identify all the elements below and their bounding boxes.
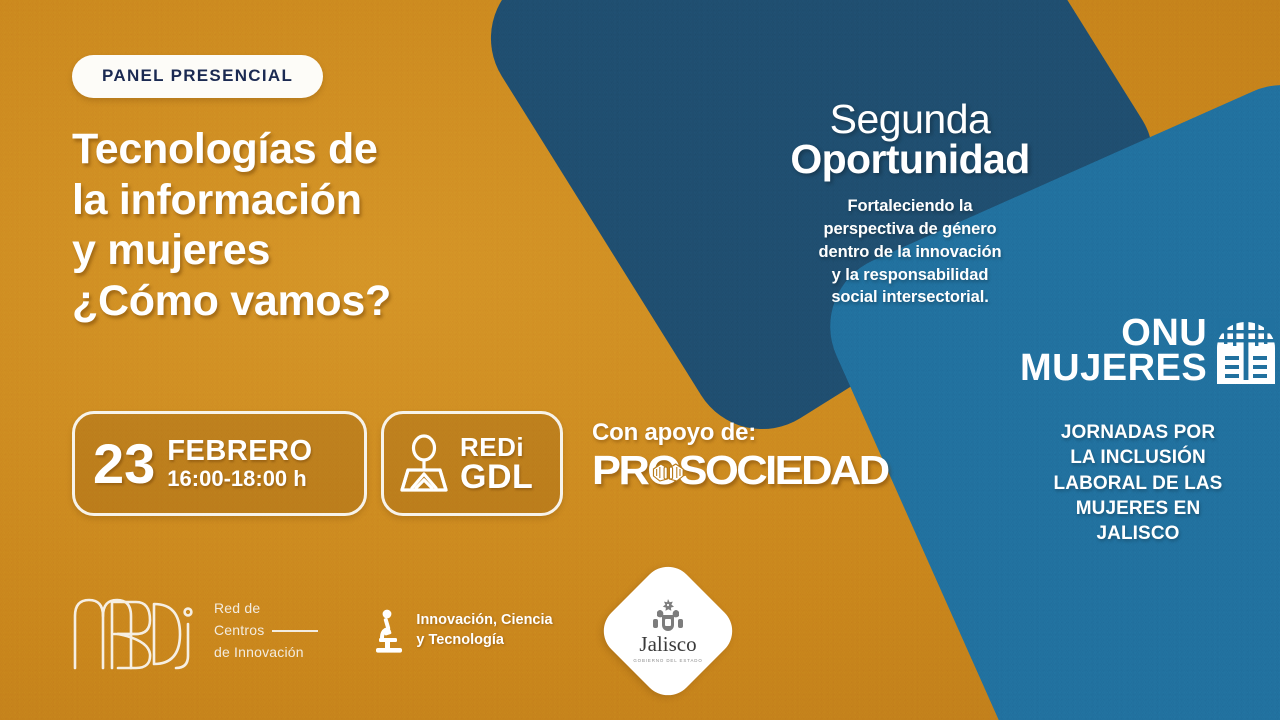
title-line-3: y mujeres bbox=[72, 225, 592, 276]
program-title-line-1: Segunda bbox=[760, 100, 1060, 139]
onu-word-1: ONU bbox=[1020, 316, 1207, 351]
campaign-title: JORNADAS POR LA INCLUSIÓN LABORAL DE LAS… bbox=[1020, 420, 1256, 546]
sponsor-name-text: PROSOCIEDAD bbox=[592, 447, 888, 493]
event-month-label: FEBRERO bbox=[167, 436, 312, 466]
program-description-line-4: y la responsabilidad bbox=[760, 264, 1060, 287]
ict-label: Innovación, Ciencia y Tecnología bbox=[416, 611, 552, 650]
title-line-4: ¿Cómo vamos? bbox=[72, 276, 592, 327]
panel-type-badge-label: PANEL PRESENCIAL bbox=[102, 66, 293, 85]
jalisco-coat-of-arms-icon bbox=[649, 599, 687, 633]
ict-label-line-2: y Tecnología bbox=[416, 631, 552, 651]
microscope-icon bbox=[376, 608, 406, 654]
program-description-line-2: perspectiva de género bbox=[760, 218, 1060, 241]
campaign-title-line-2: LA INCLUSIÓN bbox=[1020, 445, 1256, 470]
redi-tagline-line-2: Centros bbox=[214, 620, 264, 642]
event-time-label: 16:00-18:00 h bbox=[167, 466, 312, 491]
handshake-icon bbox=[651, 456, 685, 486]
program-description-line-5: social intersectorial. bbox=[760, 286, 1060, 309]
campaign-title-line-4: MUJERES EN bbox=[1020, 496, 1256, 521]
redi-logo: Red de Centros de Innovación bbox=[70, 590, 318, 672]
sponsor-block: Con apoyo de: PROSOCIEDAD bbox=[592, 419, 882, 491]
jalisco-government-logo: Jalisco GOBIERNO DEL ESTADO bbox=[593, 556, 743, 706]
panel-type-badge: PANEL PRESENCIAL bbox=[72, 55, 323, 98]
redi-building-icon bbox=[398, 434, 450, 494]
campaign-title-line-5: JALISCO bbox=[1020, 521, 1256, 546]
redi-tagline-line-3: de Innovación bbox=[214, 642, 318, 664]
page-title: Tecnologías de la información y mujeres … bbox=[72, 124, 592, 327]
sponsor-name: PROSOCIEDAD bbox=[592, 450, 899, 491]
redi-wordmark-icon bbox=[70, 590, 198, 672]
event-day-number: 23 bbox=[93, 436, 155, 492]
redi-tagline-rule bbox=[272, 630, 318, 632]
ict-label-line-1: Innovación, Ciencia bbox=[416, 611, 552, 631]
redi-tagline: Red de Centros de Innovación bbox=[214, 598, 318, 663]
title-line-2: la información bbox=[72, 175, 592, 226]
event-venue-card: REDi GDL bbox=[381, 411, 563, 516]
onu-word-2: MUJERES bbox=[1020, 351, 1207, 386]
program-description-line-3: dentro de la innovación bbox=[760, 241, 1060, 264]
program-description: Fortaleciendo la perspectiva de género d… bbox=[760, 195, 1060, 309]
onu-mujeres-logo: ONU MUJERES bbox=[1020, 316, 1275, 386]
event-poster: PANEL PRESENCIAL Tecnologías de la infor… bbox=[0, 0, 1280, 720]
jalisco-subtitle: GOBIERNO DEL ESTADO bbox=[618, 658, 718, 663]
campaign-title-line-1: JORNADAS POR bbox=[1020, 420, 1256, 445]
event-date-card: 23 FEBRERO 16:00-18:00 h bbox=[72, 411, 367, 516]
program-description-line-1: Fortaleciendo la bbox=[760, 195, 1060, 218]
program-title-line-2: Oportunidad bbox=[760, 139, 1060, 180]
redi-tagline-line-1: Red de bbox=[214, 598, 318, 620]
sponsor-label: Con apoyo de: bbox=[592, 419, 882, 447]
ict-logo: Innovación, Ciencia y Tecnología bbox=[376, 608, 552, 654]
un-women-emblem-icon bbox=[1217, 318, 1275, 384]
venue-city-label: GDL bbox=[460, 460, 533, 494]
jalisco-name: Jalisco bbox=[618, 634, 718, 655]
program-block: Segunda Oportunidad Fortaleciendo la per… bbox=[760, 100, 1060, 309]
venue-network-label: REDi bbox=[460, 434, 533, 460]
campaign-title-line-3: LABORAL DE LAS bbox=[1020, 471, 1256, 496]
title-line-1: Tecnologías de bbox=[72, 124, 592, 175]
footer-logo-row: Red de Centros de Innovación bbox=[70, 576, 721, 686]
